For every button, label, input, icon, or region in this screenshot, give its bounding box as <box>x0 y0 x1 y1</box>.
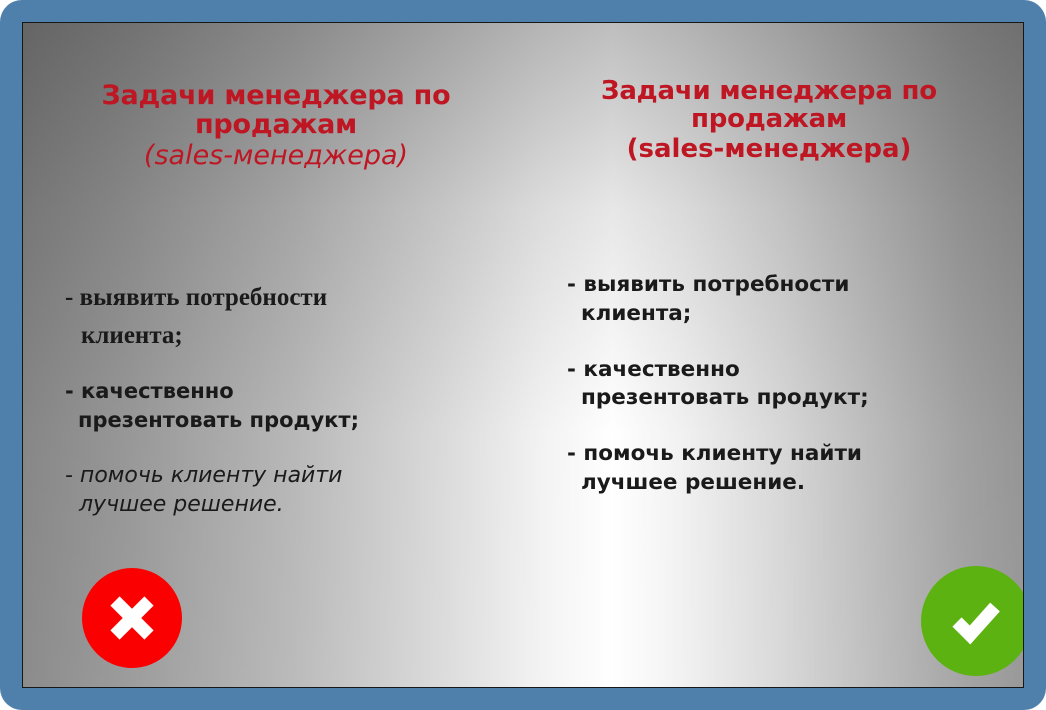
column-bad-example: Задачи менеджера по продажам (sales-мене… <box>23 23 523 687</box>
slide-frame: Задачи менеджера по продажам (sales-мене… <box>0 0 1046 710</box>
left-bullet-list: - выявить потребности клиента; - качеств… <box>23 279 523 520</box>
left-title-block: Задачи менеджера по продажам (sales-мене… <box>23 81 523 170</box>
list-item: - помочь клиенту найти лучшее решение. <box>567 440 999 498</box>
list-item: - выявить потребности клиента; <box>65 279 503 355</box>
list-item: - помочь клиенту найти лучшее решение. <box>65 461 503 521</box>
column-good-example: Задачи менеджера по продажам (sales-мене… <box>523 23 1023 687</box>
comparison-columns: Задачи менеджера по продажам (sales-мене… <box>23 23 1023 687</box>
right-title-block: Задачи менеджера по продажам (sales-мене… <box>523 77 1023 163</box>
right-title-subtitle: (sales-менеджера) <box>561 135 977 163</box>
right-bullet-list: - выявить потребности клиента; - качеств… <box>523 271 1023 498</box>
check-icon <box>944 589 1008 653</box>
list-item: - качественно презентовать продукт; <box>567 356 999 414</box>
status-badge-correct <box>921 566 1024 676</box>
cross-icon <box>104 590 160 646</box>
status-badge-incorrect <box>82 568 182 668</box>
list-item: - качественно презентовать продукт; <box>65 377 503 435</box>
right-title-main: Задачи менеджера по продажам <box>561 77 977 133</box>
list-item: - выявить потребности клиента; <box>567 271 999 329</box>
left-title-main: Задачи менеджера по продажам <box>57 81 495 139</box>
left-title-subtitle: (sales-менеджера) <box>57 141 495 170</box>
slide-canvas: Задачи менеджера по продажам (sales-мене… <box>22 22 1024 688</box>
